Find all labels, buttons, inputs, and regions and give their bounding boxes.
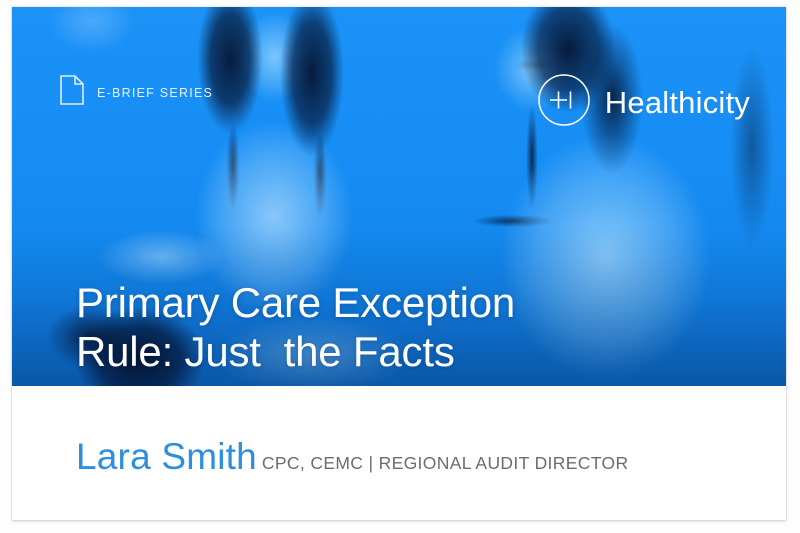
- eyebrow: E-BRIEF SERIES: [60, 75, 213, 110]
- healthicity-monogram-icon: [537, 73, 591, 132]
- byline-row: Lara Smith CPC, CEMC | REGIONAL AUDIT DI…: [76, 436, 628, 478]
- eyebrow-label: E-BRIEF SERIES: [97, 86, 213, 100]
- byline-section: Lara Smith CPC, CEMC | REGIONAL AUDIT DI…: [12, 386, 786, 520]
- cover-card: E-BRIEF SERIES Healthicity Primary Care …: [12, 7, 786, 520]
- author-name: Lara Smith: [76, 436, 257, 478]
- hero-section: E-BRIEF SERIES Healthicity Primary Care …: [12, 7, 786, 386]
- page-root: E-BRIEF SERIES Healthicity Primary Care …: [0, 0, 800, 533]
- document-icon: [60, 75, 84, 110]
- brand-logo: Healthicity: [537, 73, 750, 132]
- page-title: Primary Care Exception Rule: Just the Fa…: [76, 278, 515, 376]
- author-credentials: CPC, CEMC | REGIONAL AUDIT DIRECTOR: [262, 453, 629, 474]
- brand-name: Healthicity: [605, 85, 750, 121]
